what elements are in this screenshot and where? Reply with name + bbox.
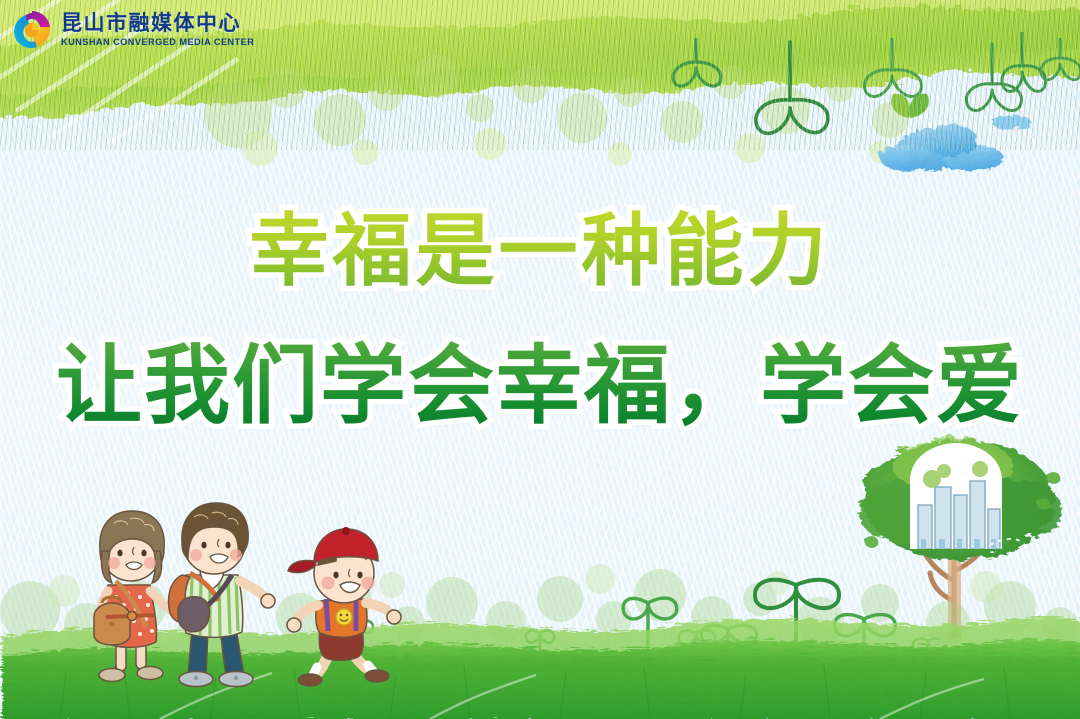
headline-line-2-fill: 让我们学会幸福，学会爱 <box>56 336 1024 436</box>
child-boy <box>169 503 276 687</box>
child-girl <box>94 511 178 682</box>
brand-logo[interactable]: 昆山市融媒体中心 KUNSHAN CONVERGED MEDIA CENTER <box>10 8 254 52</box>
leaf-pair-icon <box>885 88 935 122</box>
headline-line-2: 让我们学会幸福，学会爱 让我们学会幸福，学会爱 <box>56 315 1024 440</box>
headline-line-1: 幸福是一种能力 幸福是一种能力 <box>250 186 831 301</box>
headline-line-1-fill: 幸福是一种能力 <box>250 205 831 297</box>
circular-swirl-logo-icon <box>10 8 54 52</box>
headline-block: 幸福是一种能力 幸福是一种能力 让我们学会幸福，学会爱 让我们学会幸福，学会爱 <box>0 186 1080 440</box>
child-toddler <box>287 527 401 686</box>
logo-name-cn: 昆山市融媒体中心 <box>61 13 254 34</box>
poster-canvas: 幸福是一种能力 幸福是一种能力 让我们学会幸福，学会爱 让我们学会幸福，学会爱 <box>0 0 1080 719</box>
children-illustration <box>86 489 416 699</box>
logo-name-en: KUNSHAN CONVERGED MEDIA CENTER <box>61 38 254 47</box>
